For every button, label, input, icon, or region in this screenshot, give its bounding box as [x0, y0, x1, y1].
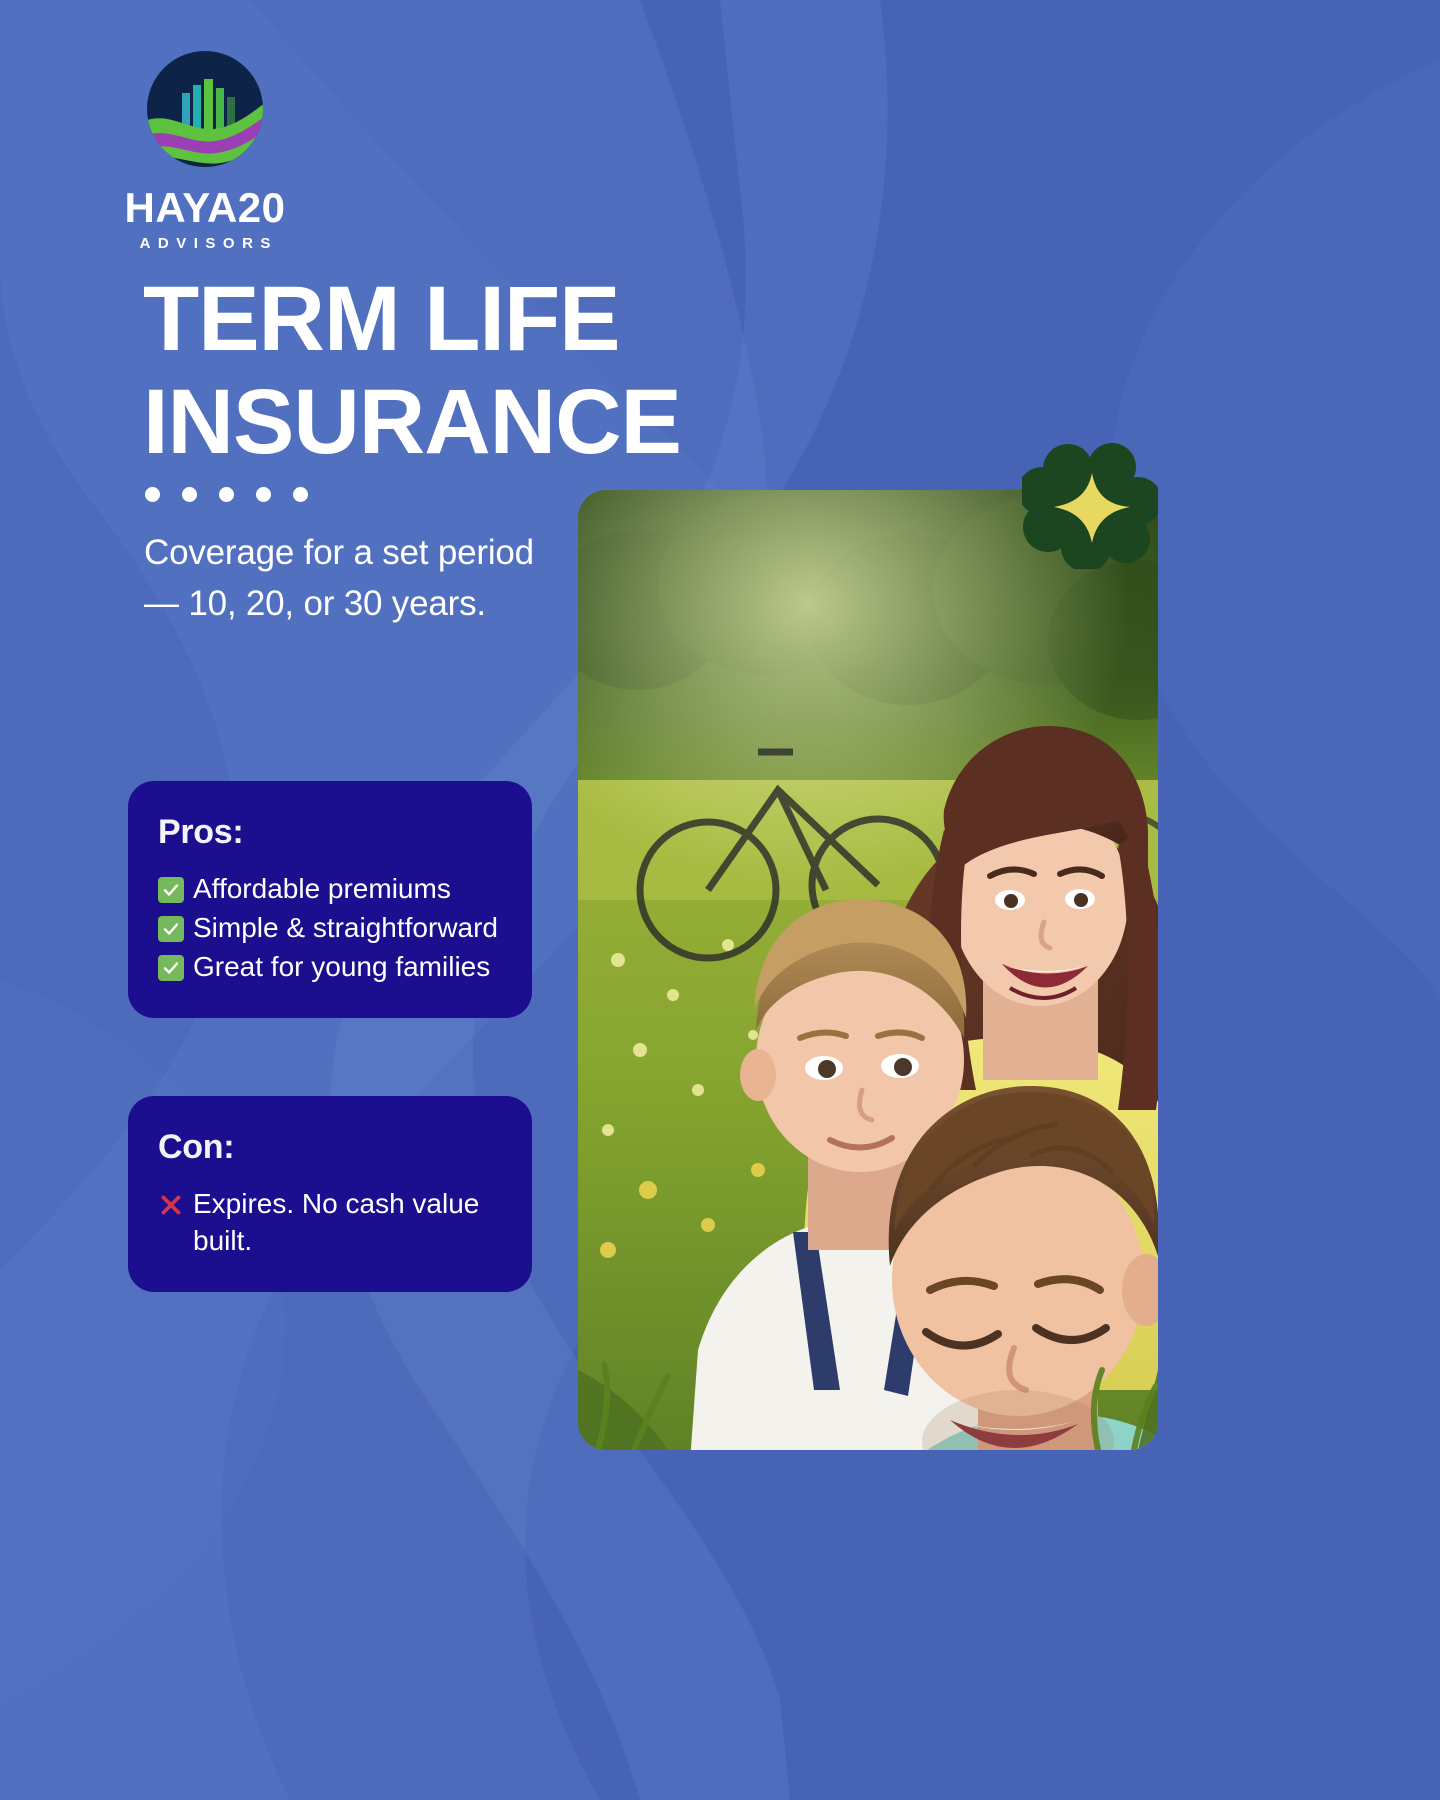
cross-mark-icon	[158, 1192, 184, 1218]
list-item-label: Simple & straightforward	[193, 910, 502, 947]
dot-divider	[145, 487, 308, 502]
list-item: Expires. No cash value built.	[158, 1186, 502, 1260]
list-item-label: Great for young families	[193, 949, 502, 986]
pros-card-title: Pros:	[158, 815, 502, 849]
green-scalloped-sparkle-badge	[1022, 443, 1158, 569]
con-card: Con: Expires. No cash value built.	[128, 1096, 532, 1292]
list-item: Great for young families	[158, 949, 502, 986]
pros-card: Pros: Affordable premiums Simple & strai…	[128, 781, 532, 1018]
divider-dot	[219, 487, 234, 502]
con-list: Expires. No cash value built.	[158, 1186, 502, 1260]
divider-dot	[256, 487, 271, 502]
poster-root: HAYA20 ADVISORS TERM LIFE INSURANCE Cove…	[0, 0, 1440, 1800]
divider-dot	[182, 487, 197, 502]
brand-wordmark: HAYA20	[124, 187, 285, 229]
check-mark-button-icon	[158, 916, 184, 942]
list-item: Simple & straightforward	[158, 910, 502, 947]
list-item: Affordable premiums	[158, 871, 502, 908]
brand-logo: HAYA20 ADVISORS	[70, 45, 340, 251]
divider-dot	[145, 487, 160, 502]
page-subtitle: Coverage for a set period — 10, 20, or 3…	[144, 527, 534, 629]
list-item-label: Expires. No cash value built.	[193, 1186, 502, 1260]
haya20-logo-icon	[141, 45, 269, 173]
check-mark-button-icon	[158, 955, 184, 981]
page-title: TERM LIFE INSURANCE	[143, 268, 903, 474]
divider-dot	[293, 487, 308, 502]
check-mark-button-icon	[158, 877, 184, 903]
pros-list: Affordable premiums Simple & straightfor…	[158, 871, 502, 986]
list-item-label: Affordable premiums	[193, 871, 502, 908]
brand-tagline: ADVISORS	[132, 236, 278, 251]
con-card-title: Con:	[158, 1130, 502, 1164]
family-meadow-photo	[578, 490, 1158, 1450]
